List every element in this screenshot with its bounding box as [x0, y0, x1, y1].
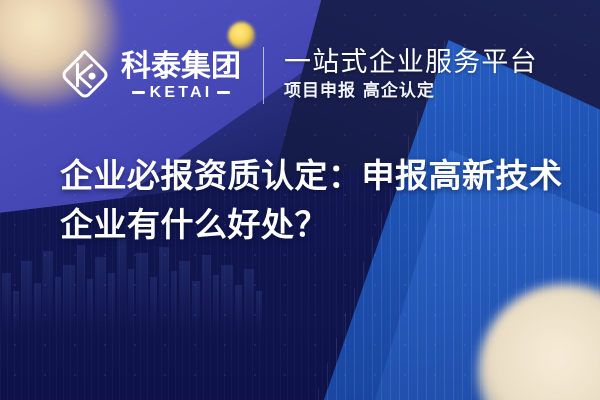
- logo-wordmark: 科泰集团 KETAI: [121, 50, 241, 101]
- company-logo: 科泰集团 KETAI: [58, 48, 241, 102]
- logo-chinese-name: 科泰集团: [121, 50, 241, 83]
- page-title: 企业必报资质认定：申报高新技术 企业有什么好处？: [60, 152, 560, 250]
- logo-english-name: KETAI: [150, 85, 213, 101]
- banner-header: 科泰集团 KETAI 一站式企业服务平台 项目申报 高企认定: [0, 36, 600, 114]
- dash-icon: [132, 91, 145, 94]
- promo-banner: 科泰集团 KETAI 一站式企业服务平台 项目申报 高企认定 企业必报资质认定：…: [0, 0, 600, 400]
- vertical-divider-icon: [263, 47, 264, 104]
- tagline-block: 一站式企业服务平台 项目申报 高企认定: [284, 48, 538, 102]
- tagline-sub: 项目申报 高企认定: [284, 81, 538, 102]
- title-line-2: 企业有什么好处？: [60, 201, 560, 250]
- logo-english-row: KETAI: [132, 85, 231, 101]
- ketai-diamond-k-logo-icon: [58, 48, 112, 102]
- title-line-1: 企业必报资质认定：申报高新技术: [60, 152, 560, 201]
- tagline-main: 一站式企业服务平台: [284, 48, 538, 78]
- dash-icon: [217, 91, 230, 94]
